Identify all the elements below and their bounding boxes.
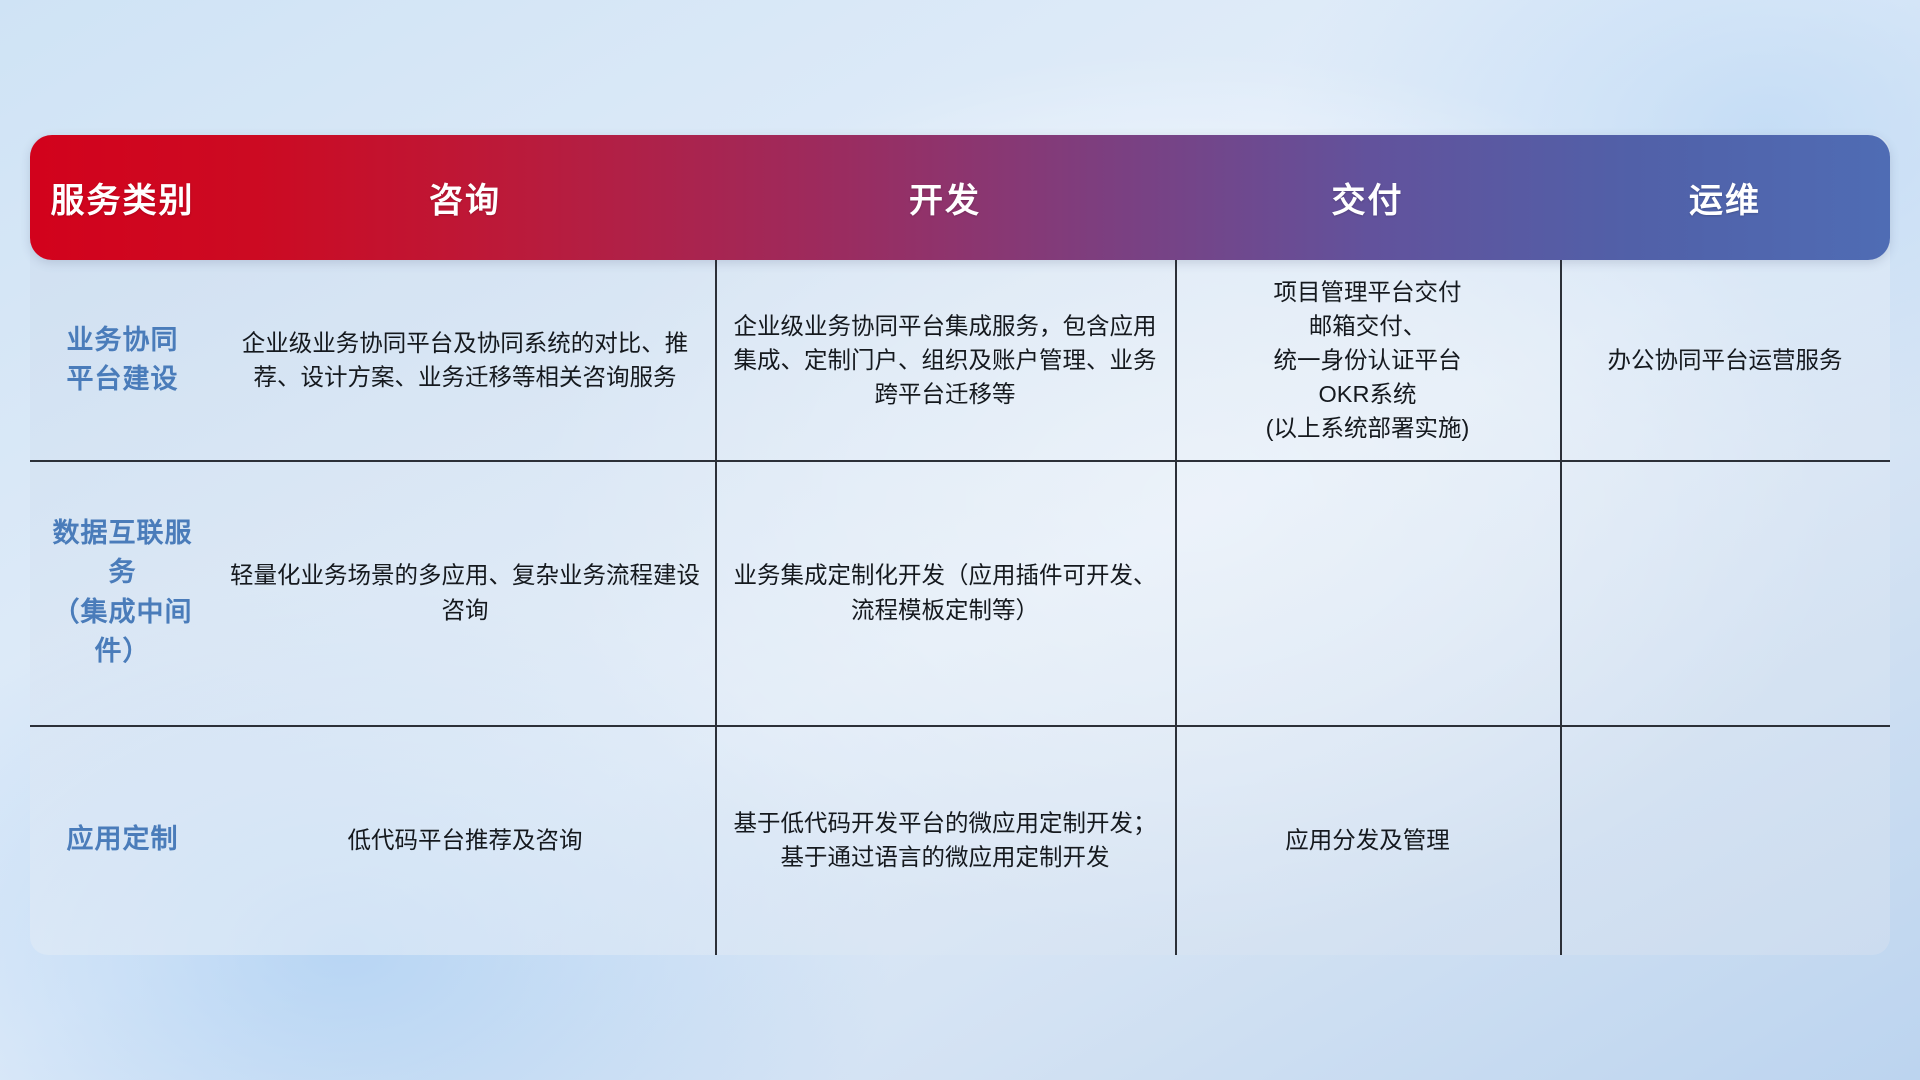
column-header-consulting: 咨询 (215, 173, 715, 222)
column-divider-1 (715, 260, 717, 955)
column-header-category: 服务类别 (30, 173, 215, 222)
row-divider-1 (30, 460, 1890, 462)
table-row: 业务协同 平台建设 企业级业务协同平台及协同系统的对比、推荐、设计方案、业务迁移… (30, 260, 1890, 460)
table-row: 应用定制 低代码平台推荐及咨询 基于低代码开发平台的微应用定制开发； 基于通过语… (30, 725, 1890, 955)
cell-consulting: 低代码平台推荐及咨询 (215, 725, 715, 955)
row-category-label: 数据互联服务 （集成中间件） (30, 460, 215, 725)
row-divider-2 (30, 725, 1890, 727)
cell-operations: 办公协同平台运营服务 (1560, 260, 1890, 460)
column-divider-3 (1560, 260, 1562, 955)
cell-delivery: 项目管理平台交付 邮箱交付、 统一身份认证平台 OKR系统 (以上系统部署实施) (1175, 260, 1560, 460)
table-header-row: 服务类别 咨询 开发 交付 运维 (30, 135, 1890, 260)
cell-development: 基于低代码开发平台的微应用定制开发； 基于通过语言的微应用定制开发 (715, 725, 1175, 955)
table-body: 业务协同 平台建设 企业级业务协同平台及协同系统的对比、推荐、设计方案、业务迁移… (30, 260, 1890, 955)
cell-consulting: 企业级业务协同平台及协同系统的对比、推荐、设计方案、业务迁移等相关咨询服务 (215, 260, 715, 460)
cell-delivery: 应用分发及管理 (1175, 725, 1560, 955)
cell-consulting: 轻量化业务场景的多应用、复杂业务流程建设咨询 (215, 460, 715, 725)
cell-development: 业务集成定制化开发（应用插件可开发、流程模板定制等） (715, 460, 1175, 725)
slide-canvas: 服务类别 咨询 开发 交付 运维 业务协同 平台建设 企业级业务协同平台及协同系… (0, 0, 1920, 1080)
cell-delivery (1175, 460, 1560, 725)
row-category-label: 应用定制 (30, 725, 215, 955)
column-header-development: 开发 (715, 173, 1175, 222)
column-header-delivery: 交付 (1175, 173, 1560, 222)
row-category-label: 业务协同 平台建设 (30, 260, 215, 460)
table-row: 数据互联服务 （集成中间件） 轻量化业务场景的多应用、复杂业务流程建设咨询 业务… (30, 460, 1890, 725)
cell-operations (1560, 725, 1890, 955)
cell-operations (1560, 460, 1890, 725)
cell-development: 企业级业务协同平台集成服务，包含应用集成、定制门户、组织及账户管理、业务跨平台迁… (715, 260, 1175, 460)
column-header-operations: 运维 (1560, 173, 1890, 222)
column-divider-2 (1175, 260, 1177, 955)
